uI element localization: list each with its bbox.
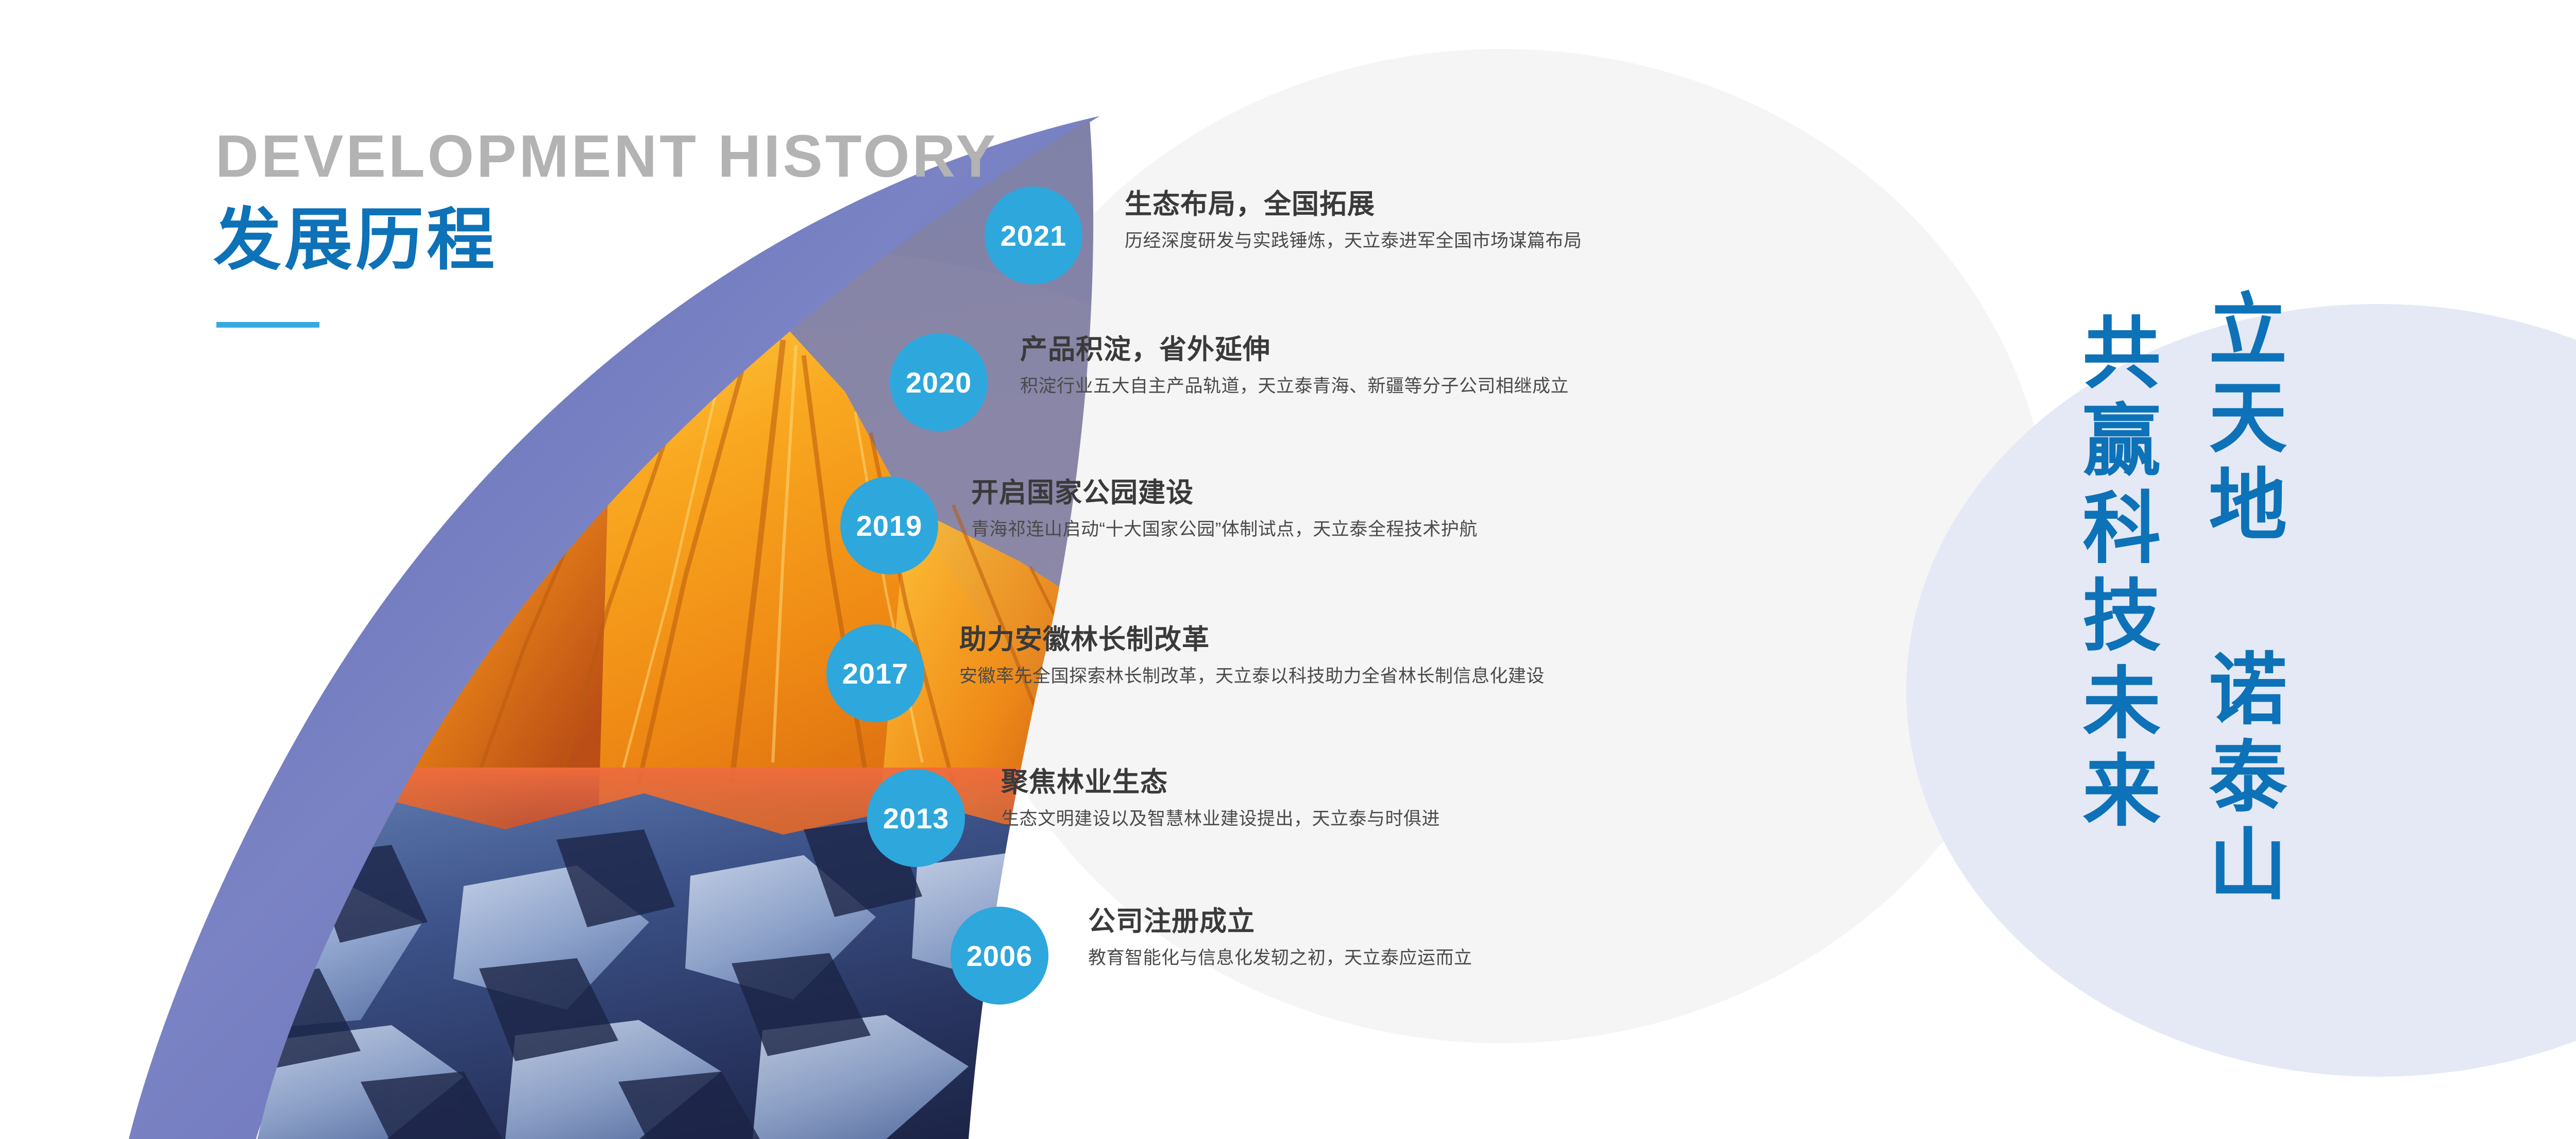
year-badge[interactable]: 2020 <box>890 333 988 431</box>
year-label: 2013 <box>883 802 950 835</box>
year-label: 2021 <box>1001 219 1067 252</box>
event-title: 产品积淀，省外延伸 <box>1020 336 1569 363</box>
year-badge[interactable]: 2006 <box>951 907 1048 1005</box>
event-desc: 积淀行业五大自主产品轨道，天立泰青海、新疆等分子公司相继成立 <box>1020 377 1569 395</box>
year-badge[interactable]: 2021 <box>985 186 1082 284</box>
timeline-text: 聚焦林业生态 生态文明建设以及智慧林业建设提出，天立泰与时俱进 <box>1001 769 1440 828</box>
event-desc: 青海祁连山启动“十大国家公园”体制试点，天立泰全程技术护航 <box>971 520 1478 538</box>
event-title: 生态布局，全国拓展 <box>1125 191 1582 218</box>
year-label: 2017 <box>842 657 909 690</box>
year-badge[interactable]: 2013 <box>867 769 965 867</box>
timeline-text: 公司注册成立 教育智能化与信息化发轫之初，天立泰应运而立 <box>1088 908 1472 967</box>
event-desc: 历经深度研发与实践锤炼，天立泰进军全国市场谋篇布局 <box>1125 232 1582 250</box>
slide-canvas: DEVELOPMENT HISTORY 发展历程 2021 生态布局，全国拓展 … <box>0 0 2576 1139</box>
year-label: 2019 <box>856 509 923 542</box>
year-badge[interactable]: 2017 <box>826 624 924 722</box>
event-desc: 生态文明建设以及智慧林业建设提出，天立泰与时俱进 <box>1001 810 1440 828</box>
event-title: 开启国家公园建设 <box>971 479 1478 506</box>
event-title: 聚焦林业生态 <box>1001 769 1440 796</box>
event-title: 助力安徽林长制改革 <box>959 626 1545 653</box>
event-desc: 安徽率先全国探索林长制改革，天立泰以科技助力全省林长制信息化建设 <box>959 667 1545 685</box>
event-title: 公司注册成立 <box>1088 908 1472 935</box>
year-badge[interactable]: 2019 <box>840 477 938 574</box>
event-desc: 教育智能化与信息化发轫之初，天立泰应运而立 <box>1088 949 1472 967</box>
year-label: 2020 <box>906 366 972 399</box>
timeline-text: 产品积淀，省外延伸 积淀行业五大自主产品轨道，天立泰青海、新疆等分子公司相继成立 <box>1020 336 1569 395</box>
year-label: 2006 <box>967 939 1033 973</box>
timeline-text: 开启国家公园建设 青海祁连山启动“十大国家公园”体制试点，天立泰全程技术护航 <box>971 479 1478 538</box>
timeline-text: 生态布局，全国拓展 历经深度研发与实践锤炼，天立泰进军全国市场谋篇布局 <box>1125 191 1582 250</box>
slogan-line-right: 立天地 诺泰山 <box>2197 288 2283 911</box>
timeline-list: 2021 生态布局，全国拓展 历经深度研发与实践锤炼，天立泰进军全国市场谋篇布局… <box>0 0 2576 1139</box>
timeline-text: 助力安徽林长制改革 安徽率先全国探索林长制改革，天立泰以科技助力全省林长制信息化… <box>959 626 1545 685</box>
slogan-line-left: 共赢科技未来 <box>2071 312 2157 837</box>
